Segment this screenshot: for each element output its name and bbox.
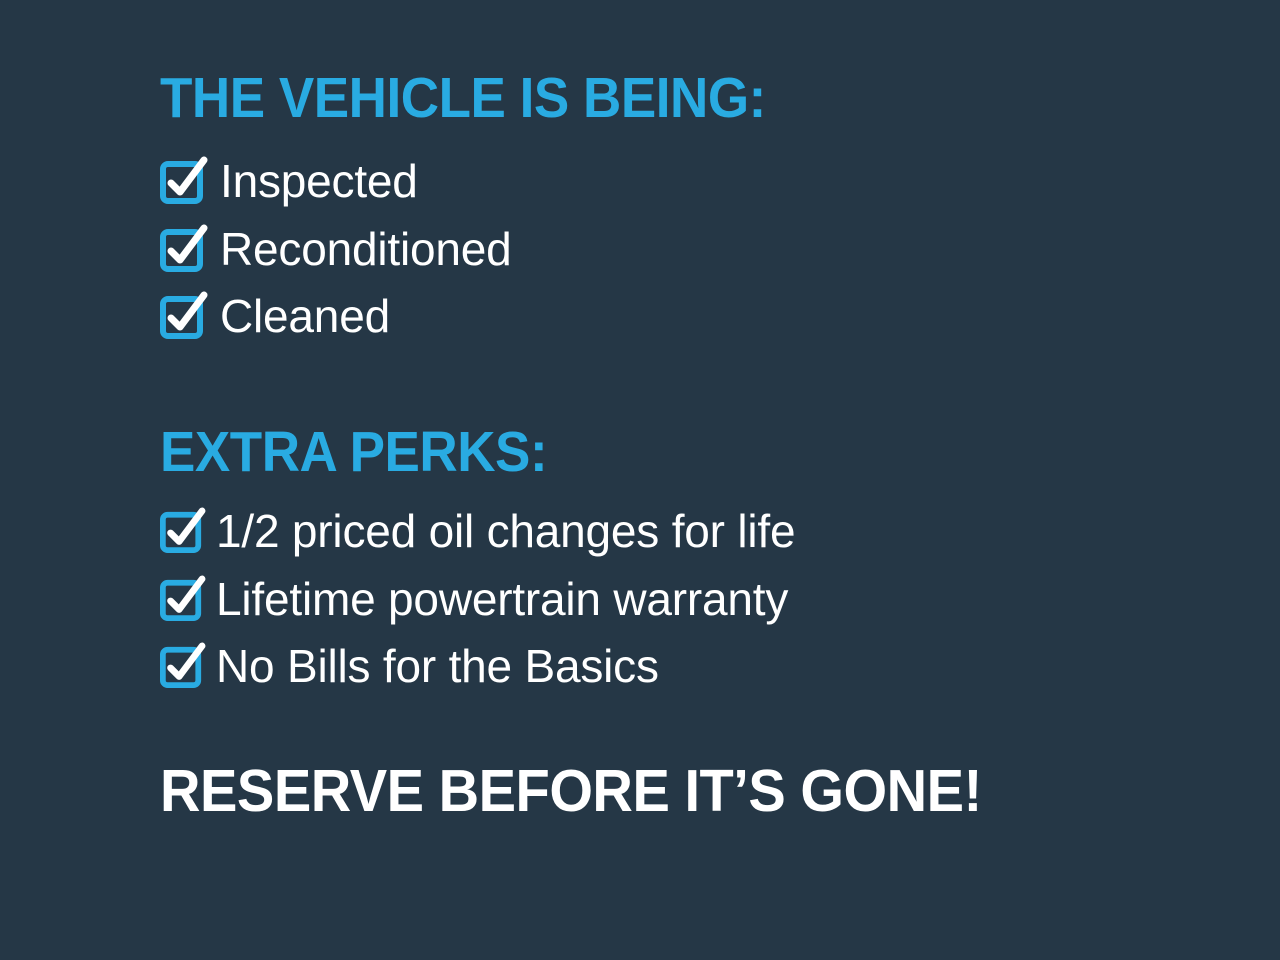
checkbox-checked-icon <box>160 158 206 204</box>
list-item-label: 1/2 priced oil changes for life <box>216 507 795 557</box>
section-heading-vehicle: THE VEHICLE IS BEING: <box>160 70 1146 127</box>
checkbox-checked-icon <box>160 293 206 339</box>
content-column: THE VEHICLE IS BEING: Inspected <box>160 70 1220 821</box>
list-item-label: Cleaned <box>220 292 390 342</box>
vehicle-checklist: Inspected Reconditioned <box>160 157 1220 342</box>
list-item: Lifetime powertrain warranty <box>160 575 1220 625</box>
section-heading-perks: EXTRA PERKS: <box>160 424 1146 481</box>
list-item: 1/2 priced oil changes for life <box>160 507 1220 557</box>
list-item: Inspected <box>160 157 1220 207</box>
list-item-label: Reconditioned <box>220 225 512 275</box>
checkbox-checked-icon <box>160 577 204 621</box>
list-item-label: Lifetime powertrain warranty <box>216 575 788 625</box>
list-item: No Bills for the Basics <box>160 642 1220 692</box>
checkbox-checked-icon <box>160 644 204 688</box>
cta-spacer <box>160 692 1220 762</box>
list-item-label: No Bills for the Basics <box>216 642 659 692</box>
list-item: Reconditioned <box>160 225 1220 275</box>
checkbox-checked-icon <box>160 509 204 553</box>
section-spacer <box>160 342 1220 424</box>
checkbox-checked-icon <box>160 226 206 272</box>
list-item-label: Inspected <box>220 157 418 207</box>
list-item: Cleaned <box>160 292 1220 342</box>
perks-checklist: 1/2 priced oil changes for life Lifetime… <box>160 507 1220 692</box>
cta-text: RESERVE BEFORE IT’S GONE! <box>160 762 1167 821</box>
promo-slide: THE VEHICLE IS BEING: Inspected <box>0 0 1280 960</box>
